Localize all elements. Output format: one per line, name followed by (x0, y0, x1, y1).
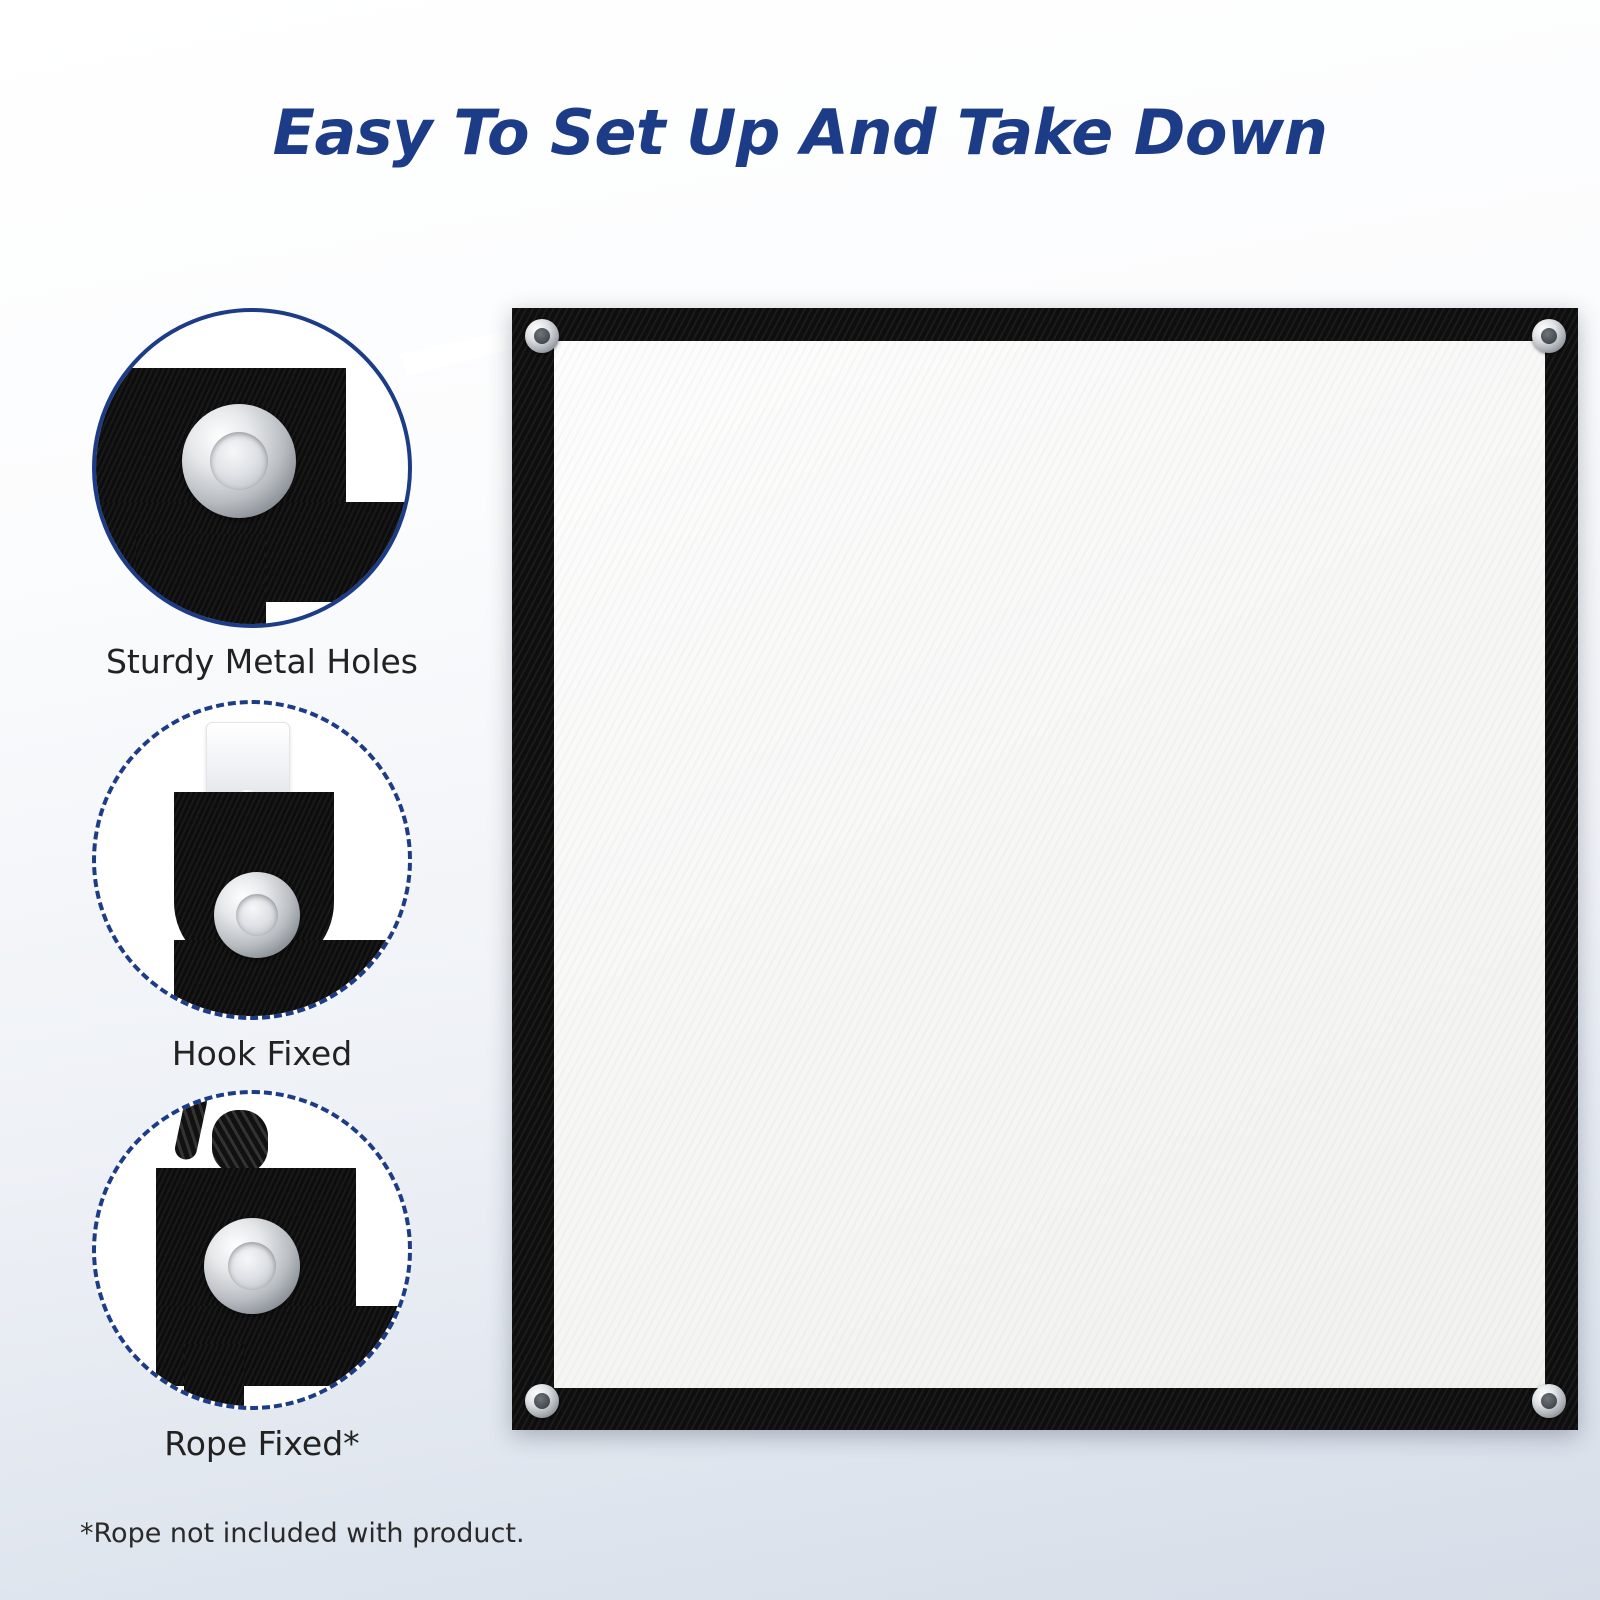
grommet-bottom-right-icon (1532, 1384, 1566, 1418)
adhesive-hook-icon (92, 700, 412, 1020)
grommet-closeup-icon (92, 308, 412, 628)
grommet-top-left-icon (525, 319, 559, 353)
feature-caption: Sturdy Metal Holes (92, 642, 432, 681)
projector-screen (512, 308, 1578, 1430)
feature-caption: Hook Fixed (92, 1034, 432, 1073)
page-title: Easy To Set Up And Take Down (0, 96, 1600, 169)
feature-sturdy-metal-holes: Sturdy Metal Holes (92, 308, 432, 681)
footnote: *Rope not included with product. (80, 1518, 525, 1549)
grommet-top-right-icon (1532, 319, 1566, 353)
screen-surface (554, 341, 1545, 1388)
rope-knot-icon (92, 1090, 412, 1410)
product-feature-graphic: Easy To Set Up And Take Down Sturdy Meta… (0, 0, 1600, 1600)
grommet-bottom-left-icon (525, 1384, 559, 1418)
feature-caption: Rope Fixed* (92, 1424, 432, 1463)
feature-rope-fixed: Rope Fixed* (92, 1090, 432, 1463)
feature-hook-fixed: Hook Fixed (92, 700, 432, 1073)
